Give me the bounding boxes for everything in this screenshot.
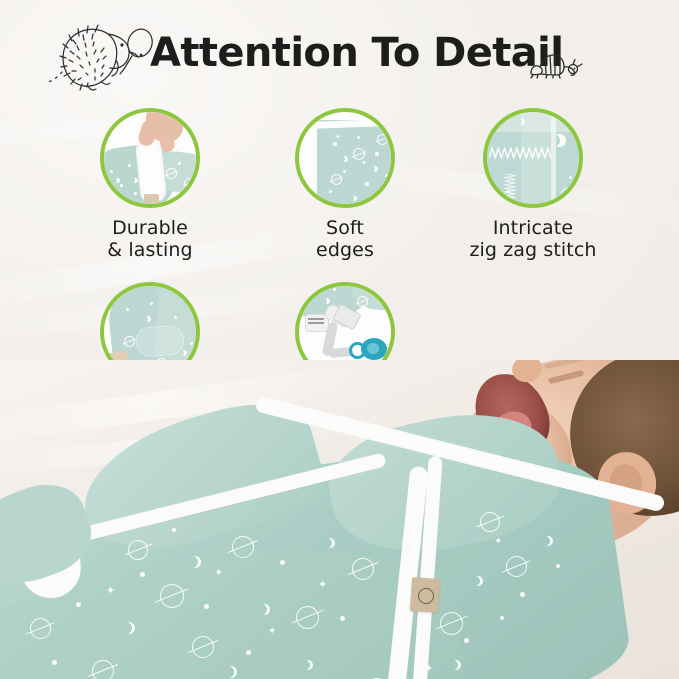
- hedgehog-with-magnifying-glass-icon: [46, 14, 156, 99]
- baby-photo: ✦ ✦ ✦ ✦ ✦ ✦: [0, 360, 679, 679]
- header: Attention To Detail: [0, 0, 679, 100]
- page-title: Attention To Detail: [150, 33, 563, 73]
- zig-zag-stitch-line: [503, 174, 517, 204]
- feature-zig-zag-stitch[interactable]: Intricate zig zag stitch: [453, 108, 613, 262]
- seam-edge: [551, 112, 556, 204]
- zig-zag-stitch-line: [489, 146, 551, 160]
- feature-image-zig-zag-stitch: [483, 108, 583, 208]
- feature-caption: Soft edges: [265, 217, 425, 262]
- feature-caption: Intricate zig zag stitch: [453, 217, 613, 262]
- product-feature-graphic: Attention To Detail: [0, 0, 679, 679]
- feature-image-soft-edge: ✦ ✦: [295, 108, 395, 208]
- feature-durable[interactable]: Durable & lasting: [70, 108, 230, 262]
- feature-image-hand-pulling-swaddle-fabric: [100, 108, 200, 208]
- brand-tag: [144, 194, 159, 204]
- feature-caption: Durable & lasting: [70, 217, 230, 262]
- moon-print: [547, 134, 560, 147]
- feature-soft-edges[interactable]: ✦ ✦ Soft edges: [265, 108, 425, 262]
- caterpillar-icon: [527, 42, 589, 80]
